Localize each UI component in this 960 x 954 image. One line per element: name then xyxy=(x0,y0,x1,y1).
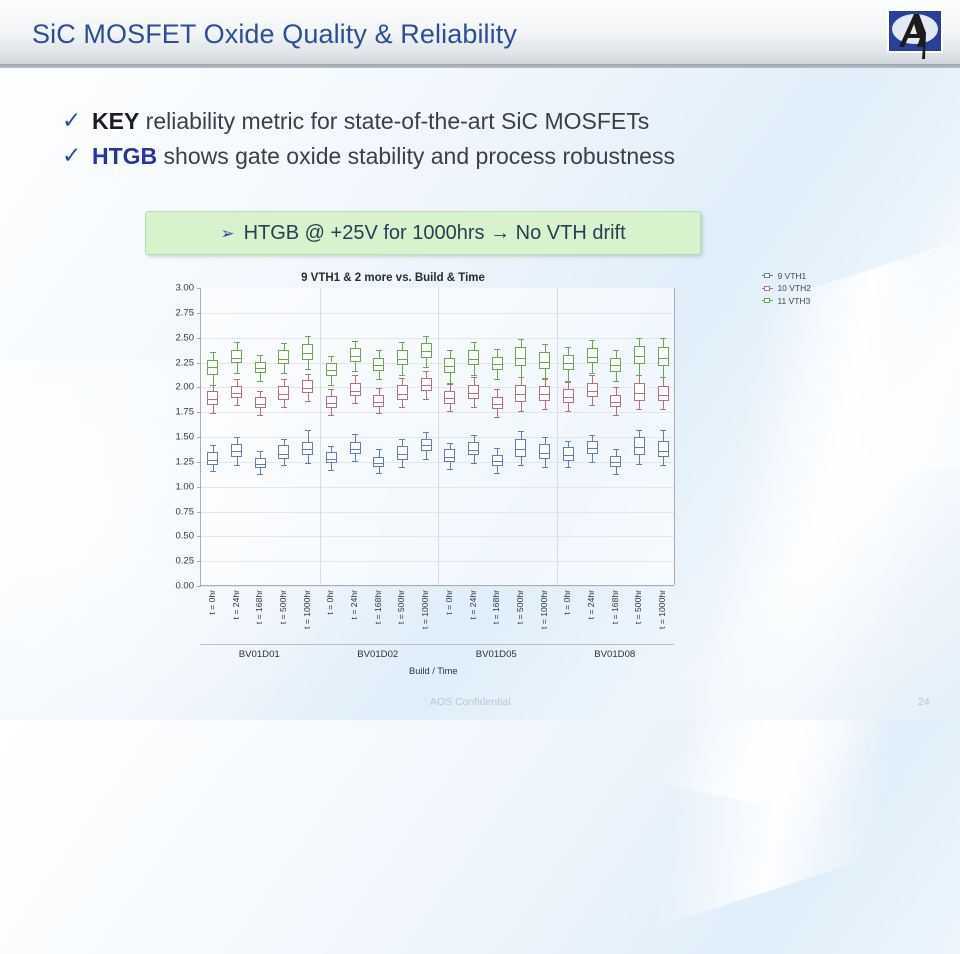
x-axis-time-label: t = 168hr xyxy=(491,590,501,624)
median-line xyxy=(326,459,337,460)
cap-lower xyxy=(613,381,619,382)
group-label-rule xyxy=(319,644,438,645)
box-iqr xyxy=(350,442,361,454)
median-line xyxy=(515,394,526,395)
whisker-lower xyxy=(545,459,546,467)
median-line xyxy=(658,358,669,359)
bullet-list: ✓ KEY reliability metric for state-of-th… xyxy=(62,107,892,176)
y-axis-tick-label: 0.25 xyxy=(176,556,202,567)
bullet-text-2: HTGB shows gate oxide stability and proc… xyxy=(92,142,675,171)
cap-lower xyxy=(399,407,405,408)
median-line xyxy=(492,404,503,405)
box-iqr xyxy=(350,383,361,396)
whisker-lower xyxy=(426,391,427,399)
cap-lower xyxy=(257,474,263,475)
whisker-upper xyxy=(497,349,498,357)
whisker-lower xyxy=(497,409,498,417)
median-line xyxy=(444,457,455,458)
median-line xyxy=(563,455,574,456)
header-divider xyxy=(0,64,960,68)
x-axis-time-label: t = 1000hr xyxy=(302,590,312,629)
whisker-upper xyxy=(426,371,427,378)
cap-lower xyxy=(613,415,619,416)
whisker-lower xyxy=(237,398,238,405)
cap-lower xyxy=(234,373,240,374)
median-line xyxy=(326,370,337,371)
whisker-upper xyxy=(474,342,475,350)
median-line xyxy=(634,356,645,357)
whisker-lower xyxy=(521,402,522,411)
median-line xyxy=(658,451,669,452)
cap-lower xyxy=(423,459,429,460)
x-axis-time-label: t = 0hr xyxy=(444,590,454,615)
cap-lower xyxy=(328,385,334,386)
whisker-lower xyxy=(474,399,475,407)
cap-upper xyxy=(494,349,500,350)
cap-lower xyxy=(376,473,382,474)
legend-box-icon xyxy=(762,272,773,280)
group-label-rule xyxy=(556,644,675,645)
cap-lower xyxy=(352,461,358,462)
cap-upper xyxy=(636,338,642,339)
cap-lower xyxy=(660,409,666,410)
cap-lower xyxy=(613,474,619,475)
box-iqr xyxy=(658,347,669,367)
median-line xyxy=(326,403,337,404)
cap-lower xyxy=(660,377,666,378)
plot-right-border xyxy=(674,288,675,585)
cap-upper xyxy=(589,375,595,376)
whisker-lower xyxy=(639,455,640,464)
whisker-lower xyxy=(308,455,309,463)
cap-upper xyxy=(565,382,571,383)
whisker-lower xyxy=(284,400,285,407)
whisker-lower xyxy=(639,401,640,409)
whisker-lower xyxy=(545,369,546,379)
whisker-lower xyxy=(663,366,664,377)
box-iqr xyxy=(468,442,479,455)
bullet-text-1: KEY reliability metric for state-of-the-… xyxy=(92,107,649,136)
whisker-upper xyxy=(568,347,569,355)
box-iqr xyxy=(255,458,266,468)
y-axis-tick-label: 2.00 xyxy=(176,382,202,393)
whisker-lower xyxy=(616,467,617,474)
bullet-rest-2: shows gate oxide stability and process r… xyxy=(157,143,675,169)
cap-upper xyxy=(660,430,666,431)
whisker-upper xyxy=(497,448,498,455)
x-axis-time-label: t = 168hr xyxy=(373,590,383,624)
cap-upper xyxy=(399,342,405,343)
cap-lower xyxy=(589,405,595,406)
cap-upper xyxy=(518,339,524,340)
cap-upper xyxy=(234,379,240,380)
x-axis-time-label: t = 1000hr xyxy=(420,590,430,629)
whisker-lower xyxy=(450,404,451,411)
box-iqr xyxy=(207,391,218,405)
cap-upper xyxy=(565,347,571,348)
cap-upper xyxy=(281,439,287,440)
cap-lower xyxy=(518,377,524,378)
cap-lower xyxy=(423,367,429,368)
bullet-item-2: ✓ HTGB shows gate oxide stability and pr… xyxy=(62,142,892,171)
whisker-lower xyxy=(260,373,261,381)
whisker-lower xyxy=(355,454,356,461)
y-axis-tick-label: 1.00 xyxy=(176,481,202,492)
box-iqr xyxy=(373,395,384,407)
median-line xyxy=(255,464,266,465)
median-line xyxy=(302,353,313,354)
whisker-upper xyxy=(402,342,403,350)
cap-upper xyxy=(210,352,216,353)
whisker-upper xyxy=(450,350,451,358)
y-axis-tick-label: 2.75 xyxy=(176,307,202,318)
cap-lower xyxy=(589,373,595,374)
median-line xyxy=(231,358,242,359)
cap-upper xyxy=(589,340,595,341)
cap-lower xyxy=(636,375,642,376)
cap-lower xyxy=(281,373,287,374)
whisker-upper xyxy=(426,336,427,343)
cap-lower xyxy=(518,465,524,466)
box-iqr xyxy=(658,441,669,457)
whisker-lower xyxy=(639,364,640,375)
whisker-lower xyxy=(402,400,403,407)
grid-line xyxy=(201,586,674,587)
whisker-lower xyxy=(450,462,451,469)
box-iqr xyxy=(515,347,526,367)
whisker-lower xyxy=(355,362,356,372)
median-line xyxy=(492,461,503,462)
chart-title: 9 VTH1 & 2 more vs. Build & Time xyxy=(143,272,643,284)
whisker-lower xyxy=(521,457,522,465)
whisker-upper xyxy=(237,342,238,350)
box-iqr xyxy=(468,350,479,366)
cap-lower xyxy=(352,371,358,372)
y-axis-tick-label: 2.50 xyxy=(176,332,202,343)
whisker-lower xyxy=(616,372,617,381)
median-line xyxy=(610,365,621,366)
cap-lower xyxy=(210,413,216,414)
median-line xyxy=(302,449,313,450)
median-line xyxy=(278,359,289,360)
box-iqr xyxy=(610,395,621,407)
box-iqr xyxy=(492,397,503,409)
cap-lower xyxy=(210,471,216,472)
median-line xyxy=(207,460,218,461)
box-iqr xyxy=(231,350,242,364)
whisker-upper xyxy=(402,378,403,385)
group-separator xyxy=(557,288,558,585)
whisker-upper xyxy=(355,341,356,348)
box-iqr xyxy=(326,452,337,463)
cap-lower xyxy=(565,381,571,382)
box-iqr xyxy=(444,358,455,374)
cap-lower xyxy=(518,411,524,412)
median-line xyxy=(350,356,361,357)
whisker-lower xyxy=(592,454,593,462)
x-axis-time-label: t = 500hr xyxy=(515,590,525,624)
cap-upper xyxy=(447,384,453,385)
legend-item[interactable]: 10 VTH2 xyxy=(762,282,811,294)
box-iqr xyxy=(658,386,669,401)
box-iqr xyxy=(278,445,289,459)
y-axis-tick-label: 1.50 xyxy=(176,432,202,443)
whisker-upper xyxy=(426,432,427,439)
group-separator xyxy=(438,288,439,585)
plot-area: 3.002.752.502.252.001.751.501.251.000.75… xyxy=(200,288,674,586)
median-line xyxy=(397,454,408,455)
median-line xyxy=(587,448,598,449)
group-label-rule xyxy=(200,644,319,645)
median-line xyxy=(563,363,574,364)
cap-lower xyxy=(257,381,263,382)
whisker-upper xyxy=(213,445,214,452)
cap-lower xyxy=(447,411,453,412)
whisker-upper xyxy=(521,339,522,347)
legend-label: 9 VTH1 xyxy=(777,270,806,282)
cap-lower xyxy=(542,409,548,410)
bullet-keyword-1: KEY xyxy=(92,108,139,134)
whisker-upper xyxy=(355,375,356,383)
box-iqr xyxy=(587,348,598,364)
callout-box: ➢ HTGB @ +25V for 1000hrs → No VTH drift xyxy=(145,211,701,255)
group-label-rule xyxy=(437,644,556,645)
cap-upper xyxy=(305,430,311,431)
whisker-lower xyxy=(331,408,332,415)
whisker-upper xyxy=(237,437,238,444)
cap-upper xyxy=(542,437,548,438)
cap-upper xyxy=(471,435,477,436)
cap-upper xyxy=(305,374,311,375)
whisker-lower xyxy=(237,457,238,465)
x-axis-time-label: t = 0hr xyxy=(562,590,572,615)
whisker-upper xyxy=(379,388,380,395)
box-iqr xyxy=(302,344,313,360)
x-axis-group-label: BV01D05 xyxy=(437,649,556,660)
median-line xyxy=(278,394,289,395)
callout-text: HTGB @ +25V for 1000hrs → No VTH drift xyxy=(244,222,626,245)
x-axis-time-label: t = 1000hr xyxy=(657,590,667,629)
cap-upper xyxy=(257,355,263,356)
cap-lower xyxy=(281,465,287,466)
whisker-lower xyxy=(402,460,403,467)
median-line xyxy=(563,397,574,398)
median-line xyxy=(350,449,361,450)
x-axis-time-label: t = 24hr xyxy=(231,590,241,619)
cap-upper xyxy=(281,343,287,344)
median-line xyxy=(373,463,384,464)
median-line xyxy=(515,449,526,450)
whisker-lower xyxy=(497,370,498,379)
median-line xyxy=(468,359,479,360)
x-axis-time-label: t = 1000hr xyxy=(539,590,549,629)
cap-upper xyxy=(352,341,358,342)
cap-upper xyxy=(589,435,595,436)
whisker-upper xyxy=(663,377,664,386)
slide-header: SiC MOSFET Oxide Quality & Reliability xyxy=(0,0,960,68)
cap-upper xyxy=(471,377,477,378)
median-line xyxy=(610,402,621,403)
median-line xyxy=(634,393,645,394)
whisker-lower xyxy=(474,365,475,375)
cap-upper xyxy=(257,451,263,452)
cap-upper xyxy=(613,449,619,450)
legend-label: 11 VTH3 xyxy=(777,295,810,307)
box-iqr xyxy=(539,352,550,370)
whisker-upper xyxy=(639,430,640,437)
y-axis-tick-label: 3.00 xyxy=(176,283,202,294)
legend-box-icon xyxy=(762,285,773,293)
median-line xyxy=(539,453,550,454)
median-line xyxy=(278,454,289,455)
cap-upper xyxy=(399,378,405,379)
cap-upper xyxy=(328,356,334,357)
median-line xyxy=(634,447,645,448)
whisker-lower xyxy=(426,451,427,459)
x-axis-time-label: t = 0hr xyxy=(325,590,335,615)
whisker-lower xyxy=(545,401,546,409)
cap-lower xyxy=(494,473,500,474)
x-axis-time-label: t = 24hr xyxy=(586,590,596,619)
cap-upper xyxy=(305,336,311,337)
cap-lower xyxy=(636,409,642,410)
cap-upper xyxy=(352,434,358,435)
arrowhead-icon: ➢ xyxy=(220,225,234,242)
cap-lower xyxy=(565,467,571,468)
whisker-lower xyxy=(213,405,214,413)
whisker-upper xyxy=(592,340,593,348)
x-axis-time-label: t = 0hr xyxy=(207,590,217,615)
whisker-upper xyxy=(592,375,593,383)
cap-lower xyxy=(328,470,334,471)
whisker-lower xyxy=(213,375,214,385)
whisker-upper xyxy=(379,449,380,457)
whisker-upper xyxy=(379,350,380,358)
cap-lower xyxy=(399,375,405,376)
cap-upper xyxy=(447,443,453,444)
whisker-upper xyxy=(663,430,664,441)
cap-upper xyxy=(423,432,429,433)
box-iqr xyxy=(563,447,574,461)
whisker-lower xyxy=(568,403,569,411)
whisker-lower xyxy=(592,363,593,373)
cap-lower xyxy=(471,407,477,408)
cap-upper xyxy=(660,338,666,339)
cap-upper xyxy=(328,446,334,447)
cap-lower xyxy=(589,462,595,463)
footer-page-number: 24 xyxy=(918,696,930,708)
box-iqr xyxy=(397,385,408,400)
cap-upper xyxy=(518,431,524,432)
box-iqr xyxy=(563,389,574,403)
whisker-upper xyxy=(260,355,261,362)
median-line xyxy=(255,368,266,369)
x-axis-group-label: BV01D01 xyxy=(200,649,319,660)
whisker-upper xyxy=(616,350,617,358)
whisker-lower xyxy=(331,376,332,385)
median-line xyxy=(444,398,455,399)
cap-lower xyxy=(636,464,642,465)
median-line xyxy=(373,365,384,366)
cap-lower xyxy=(257,415,263,416)
median-line xyxy=(397,359,408,360)
whisker-lower xyxy=(474,455,475,463)
bullet-rest-1: reliability metric for state-of-the-art … xyxy=(139,108,649,134)
cap-lower xyxy=(328,415,334,416)
x-axis-time-label: t = 500hr xyxy=(278,590,288,624)
whisker-lower xyxy=(260,408,261,415)
median-line xyxy=(207,367,218,368)
legend-item[interactable]: 9 VTH1 xyxy=(762,270,811,282)
median-line xyxy=(515,358,526,359)
legend-item[interactable]: 11 VTH3 xyxy=(762,295,811,307)
cap-lower xyxy=(210,385,216,386)
whisker-lower xyxy=(308,393,309,401)
cap-upper xyxy=(234,437,240,438)
box-iqr xyxy=(278,350,289,365)
cap-lower xyxy=(542,467,548,468)
cap-upper xyxy=(234,342,240,343)
footer-confidential: AOS Confidential xyxy=(430,696,511,708)
whisker-lower xyxy=(355,396,356,403)
median-line xyxy=(587,357,598,358)
whisker-lower xyxy=(663,457,664,465)
median-line xyxy=(350,391,361,392)
cap-upper xyxy=(423,336,429,337)
median-line xyxy=(207,399,218,400)
x-axis-time-label: t = 500hr xyxy=(396,590,406,624)
box-iqr xyxy=(373,457,384,467)
whisker-upper xyxy=(474,435,475,442)
bullet-item-1: ✓ KEY reliability metric for state-of-th… xyxy=(62,107,892,136)
box-iqr xyxy=(563,355,574,371)
median-line xyxy=(610,462,621,463)
median-line xyxy=(658,395,669,396)
check-icon: ✓ xyxy=(62,142,80,167)
box-iqr xyxy=(207,452,218,465)
cap-lower xyxy=(352,403,358,404)
median-line xyxy=(539,394,550,395)
cap-upper xyxy=(257,391,263,392)
cap-upper xyxy=(210,445,216,446)
chart-legend: 9 VTH110 VTH211 VTH3 xyxy=(762,270,811,307)
y-axis-tick-label: 1.75 xyxy=(176,407,202,418)
cap-lower xyxy=(471,375,477,376)
cap-lower xyxy=(542,379,548,380)
cap-upper xyxy=(423,371,429,372)
cap-lower xyxy=(423,399,429,400)
cap-upper xyxy=(613,387,619,388)
whisker-upper xyxy=(450,384,451,391)
bullet-keyword-2: HTGB xyxy=(92,143,157,169)
y-axis-tick-label: 0.00 xyxy=(176,581,202,592)
cap-upper xyxy=(636,430,642,431)
cap-upper xyxy=(352,375,358,376)
whisker-upper xyxy=(663,338,664,347)
whisker-upper xyxy=(284,379,285,386)
cap-lower xyxy=(447,469,453,470)
box-iqr xyxy=(444,449,455,462)
cap-upper xyxy=(376,449,382,450)
whisker-upper xyxy=(521,377,522,385)
cap-upper xyxy=(613,350,619,351)
whisker-lower xyxy=(592,397,593,405)
median-line xyxy=(421,351,432,352)
cap-lower xyxy=(281,407,287,408)
cap-lower xyxy=(399,467,405,468)
box-iqr xyxy=(492,357,503,371)
x-axis-time-label: t = 24hr xyxy=(468,590,478,619)
